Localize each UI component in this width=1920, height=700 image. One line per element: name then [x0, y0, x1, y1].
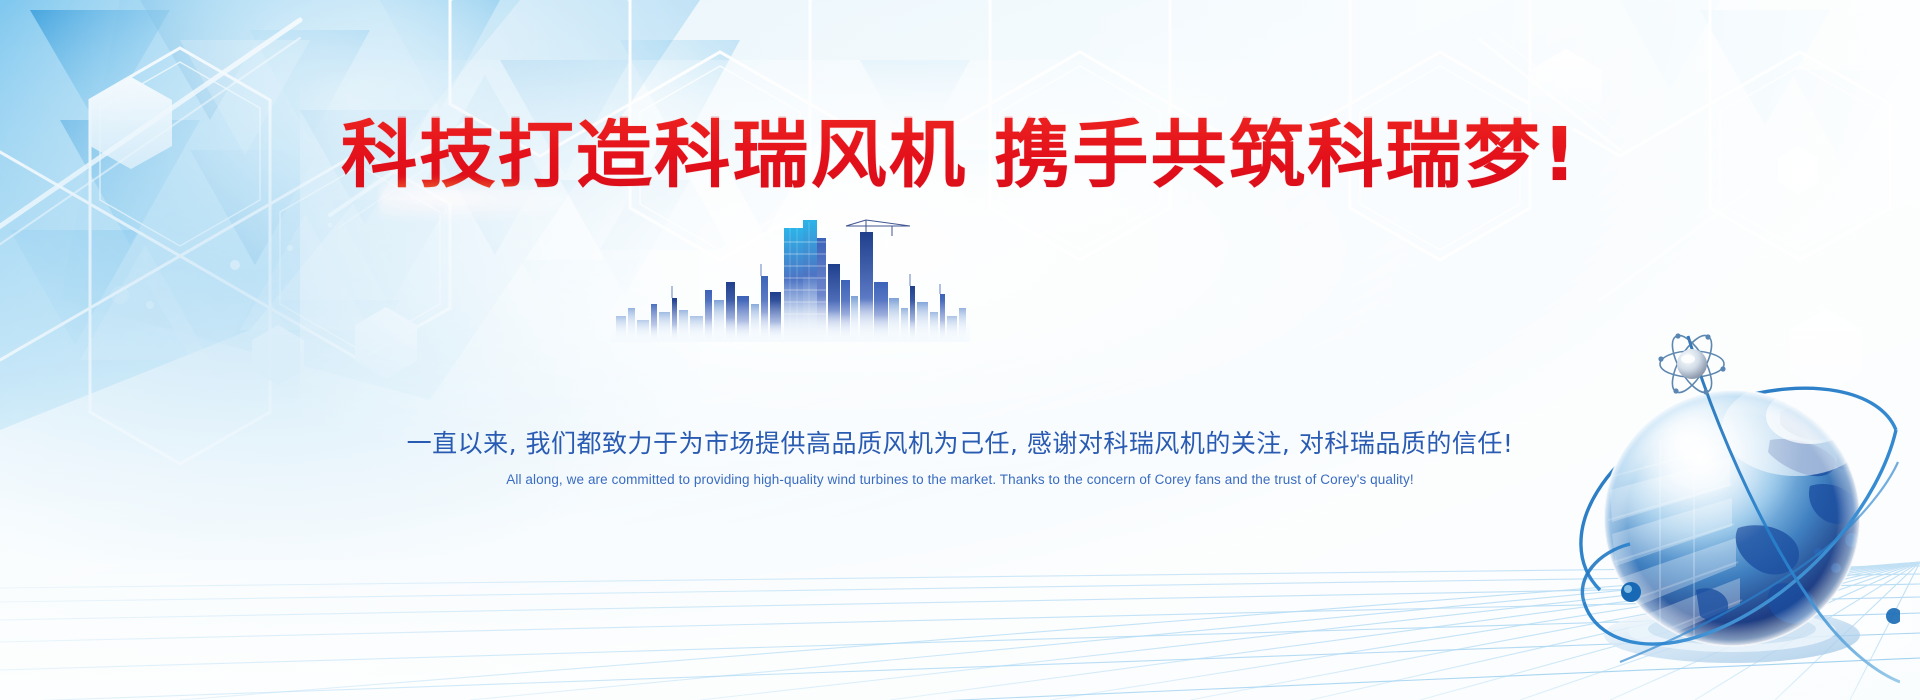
globe-sphere: [1604, 380, 1870, 652]
promo-banner: 科技打造科瑞风机携手共筑科瑞梦!: [0, 0, 1920, 700]
headline-part-2: 携手共筑科瑞梦!: [994, 112, 1579, 198]
headline-container: 科技打造科瑞风机携手共筑科瑞梦!: [0, 118, 1920, 192]
banner-headline: 科技打造科瑞风机携手共筑科瑞梦!: [341, 118, 1579, 192]
subtitle-container: 一直以来, 我们都致力于为市场提供高品质风机为己任, 感谢对科瑞风机的关注, 对…: [0, 424, 1920, 487]
atom-orbit-icon: [1658, 330, 1725, 398]
city-skyline-illustration: [610, 212, 970, 342]
globe-svg: [1480, 290, 1900, 690]
bokeh-dots: [111, 223, 332, 309]
subtitle-chinese: 一直以来, 我们都致力于为市场提供高品质风机为己任, 感谢对科瑞风机的关注, 对…: [0, 424, 1920, 460]
skyline-svg: [610, 212, 970, 342]
subtitle-english: All along, we are committed to providing…: [0, 472, 1920, 487]
triangle-cluster-left: [10, 0, 1050, 415]
glass-globe-illustration: [1480, 290, 1900, 690]
headline-part-1: 科技打造科瑞风机: [341, 112, 967, 198]
